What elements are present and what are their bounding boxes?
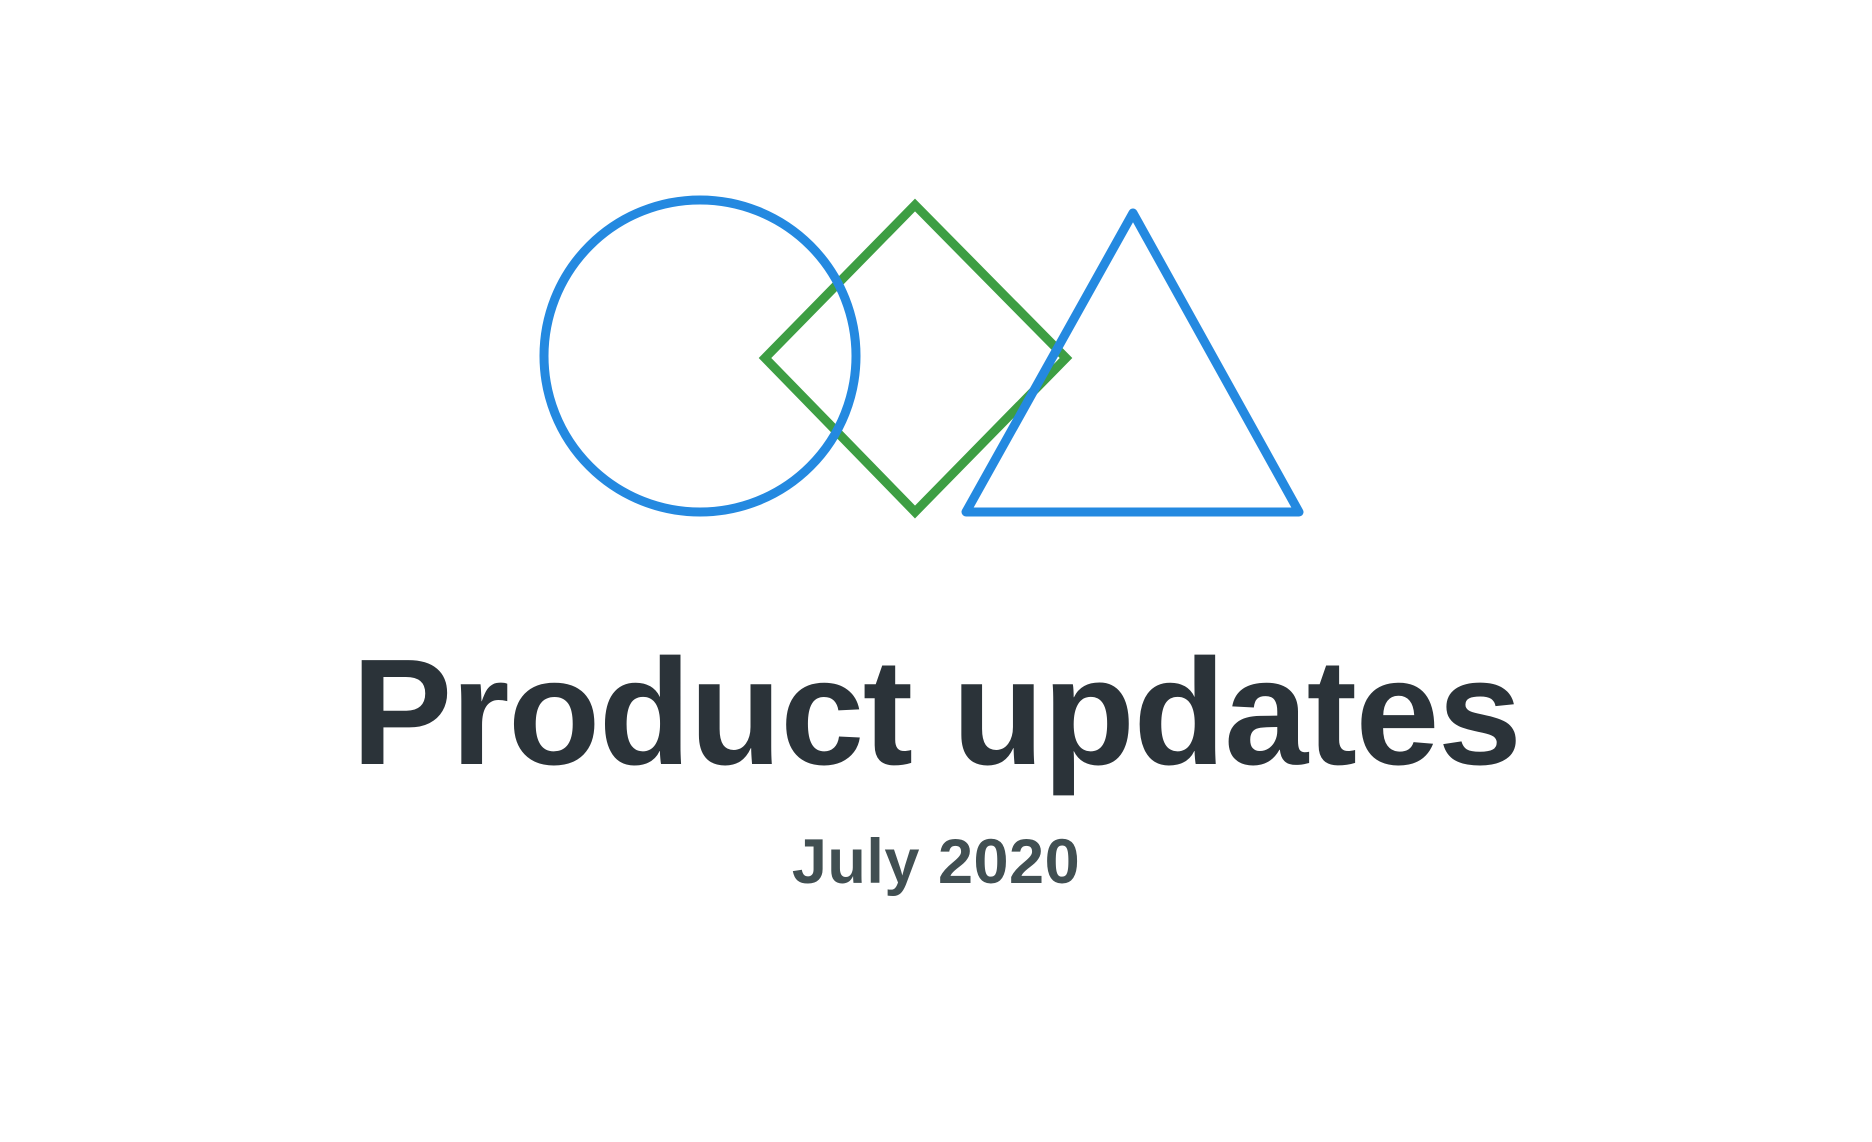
three-shapes-logo — [0, 0, 1872, 620]
slide-canvas: Product updates July 2020 — [0, 0, 1872, 1142]
page-title: Product updates — [0, 636, 1872, 787]
triangle-outline-icon — [966, 213, 1299, 512]
circle-outline-icon — [544, 200, 856, 512]
logo-svg — [0, 0, 1872, 620]
title-block: Product updates July 2020 — [0, 636, 1872, 894]
page-subtitle: July 2020 — [0, 787, 1872, 894]
